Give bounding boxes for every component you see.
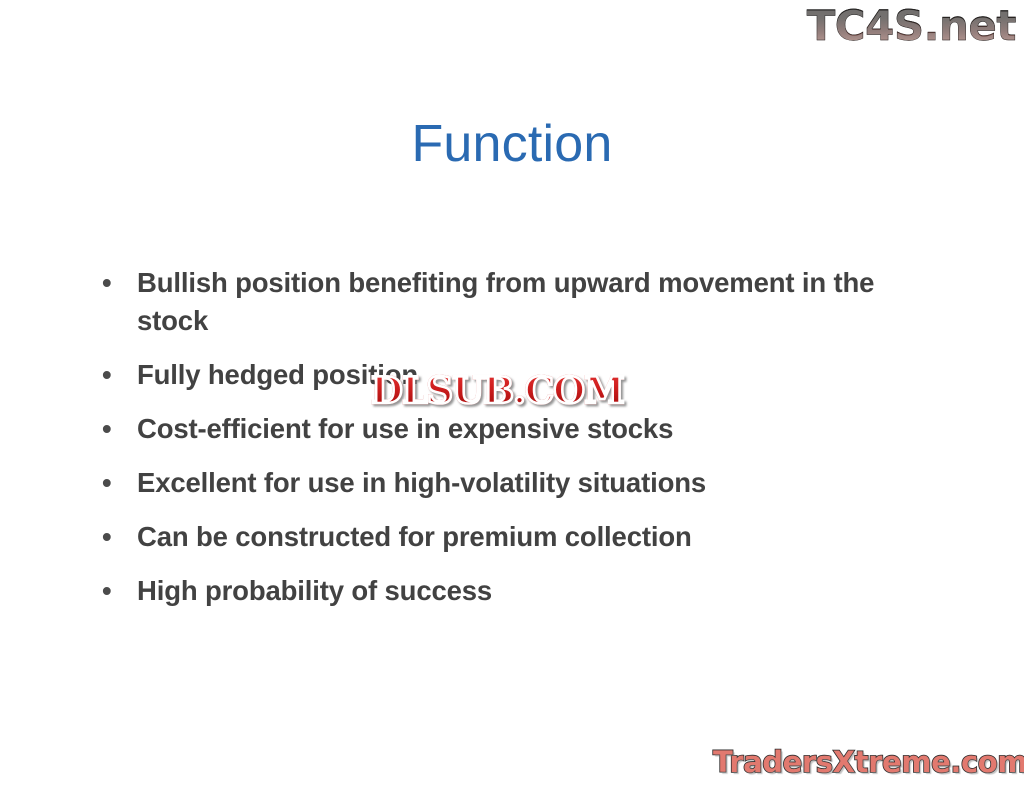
presentation-slide: TC4S.net Function • Bullish position ben…	[0, 0, 1024, 791]
list-item-label: Excellent for use in high-volatility sit…	[137, 464, 932, 502]
list-item: • Bullish position benefiting from upwar…	[96, 264, 932, 340]
tc4s-site-logo: TC4S.net	[807, 2, 1016, 50]
bullet-point-icon: •	[102, 518, 122, 556]
list-item-label: Bullish position benefiting from upward …	[137, 264, 932, 340]
bullet-list: • Bullish position benefiting from upwar…	[96, 264, 932, 610]
list-item: • Can be constructed for premium collect…	[96, 518, 932, 556]
bullet-point-icon: •	[102, 264, 122, 302]
page-title: Function	[0, 113, 1024, 175]
list-item-label: Can be constructed for premium collectio…	[137, 518, 932, 556]
list-item-label: High probability of success	[137, 572, 932, 610]
list-item-label: Cost-efficient for use in expensive stoc…	[137, 410, 932, 448]
bullet-point-icon: •	[102, 410, 122, 448]
dlsub-watermark: DLSUB.COM	[371, 370, 624, 412]
bullet-point-icon: •	[102, 356, 122, 394]
tradersxtreme-watermark: TradersXtreme.com	[713, 744, 1024, 780]
list-item: • High probability of success	[96, 572, 932, 610]
list-item: • Cost-efficient for use in expensive st…	[96, 410, 932, 448]
bullet-point-icon: •	[102, 572, 122, 610]
list-item: • Excellent for use in high-volatility s…	[96, 464, 932, 502]
bullet-point-icon: •	[102, 464, 122, 502]
